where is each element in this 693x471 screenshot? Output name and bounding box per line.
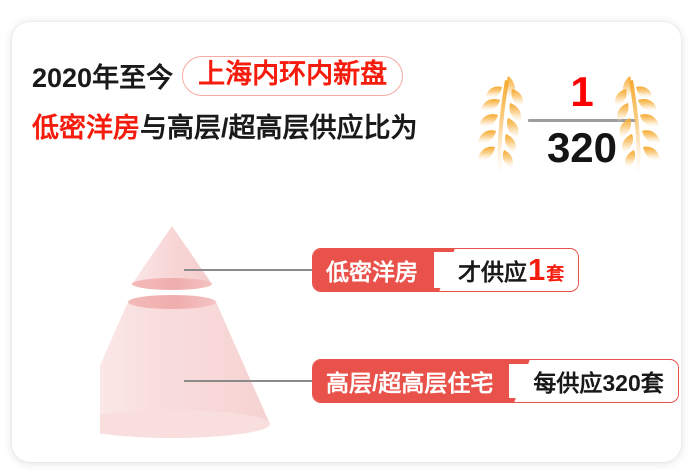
badge-category-label: 低密洋房 (312, 249, 434, 291)
badge-category-label: 高层/超高层住宅 (312, 360, 509, 402)
ratio-block: 1 320 (464, 66, 681, 186)
badge-value-unit: 套 (546, 260, 564, 286)
pyramid-diagram (100, 212, 340, 452)
headline-emphasis-text: 低密洋房 (32, 106, 140, 145)
callout-badge-highrise: 高层/超高层住宅 每供应320套 (312, 359, 679, 403)
connector-line-bottom (184, 380, 313, 382)
badge-value-text: 每供应320套 (533, 364, 663, 398)
badge-value-group: 每供应320套 (509, 364, 677, 398)
headline-row-primary: 2020年至今 上海内环内新盘 (32, 56, 462, 96)
headline-row-secondary: 低密洋房 与高层/超高层供应比为 (32, 106, 462, 145)
header-block: 2020年至今 上海内环内新盘 低密洋房 与高层/超高层供应比为 (32, 56, 462, 145)
connector-line-top (184, 269, 313, 271)
watermark-text: 搜狐号@搜狐焦点直播站 (508, 459, 678, 462)
badge-value-group: 才供应 1 套 (434, 252, 578, 288)
badge-value-number: 1 (528, 252, 545, 288)
infographic-card: 2020年至今 上海内环内新盘 低密洋房 与高层/超高层供应比为 (12, 22, 681, 462)
pyramid-top-segment (132, 226, 212, 290)
headline-rest-text: 与高层/超高层供应比为 (140, 106, 418, 145)
laurel-branch-icon (610, 72, 666, 178)
callout-badge-low-density: 低密洋房 才供应 1 套 (312, 248, 579, 292)
pyramid-bottom-segment (100, 295, 270, 438)
headline-period-text: 2020年至今 (32, 56, 173, 95)
badge-value-prefix: 才供应 (458, 253, 527, 287)
headline-highlight-pill: 上海内环内新盘 (182, 56, 403, 96)
